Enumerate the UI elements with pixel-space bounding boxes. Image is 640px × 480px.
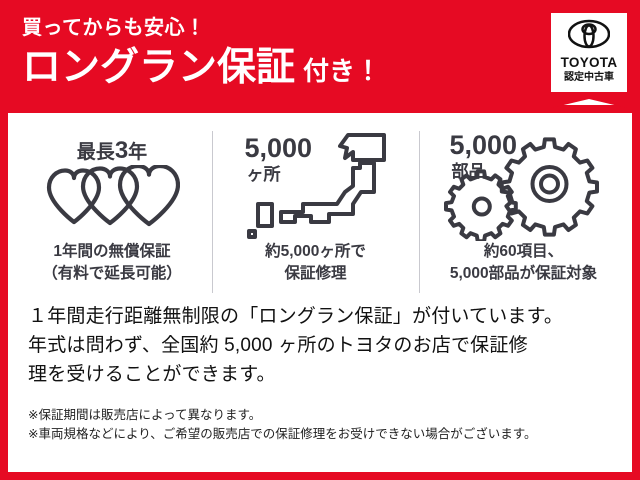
footnotes: ※保証期間は販売店によって異なります。 ※車両規格などにより、ご希望の販売店での… <box>28 406 612 445</box>
logo-brand-jp: 認定中古車 <box>564 73 614 83</box>
feature-1-icon-area: 最長3年 <box>16 125 208 245</box>
feature-1-caption-line2: （有料で延長可能） <box>42 263 182 285</box>
gears-block: 5,000 部品 <box>444 129 604 241</box>
feature-3-badge-number: 5,000 <box>450 133 518 159</box>
feature-3-caption-line2: 5,000部品が保証対象 <box>450 263 597 285</box>
logo-swoosh-shape <box>551 92 627 108</box>
content-panel: 最長3年 <box>8 113 632 472</box>
feature-service-locations: 5,000 ヶ所 <box>212 125 419 301</box>
feature-2-caption: 約5,000ヶ所で 保証修理 <box>265 241 366 286</box>
headline-main-text: ロングラン保証 <box>22 48 295 87</box>
header-kicker: 買ってからも安心！ <box>22 18 381 38</box>
body-line-2: 年式は問わず、全国約 5,000 ヶ所のトヨタのお店で保証修 <box>28 332 612 361</box>
feature-1-caption: 1年間の無償保証 （有料で延長可能） <box>42 241 182 286</box>
feature-1-badge-suffix: 年 <box>128 142 147 163</box>
header-banner: 買ってからも安心！ ロングラン保証 付き！ TOYOTA 認定中古車 <box>0 0 640 113</box>
feature-1-caption-line1: 1年間の無償保証 <box>42 241 182 263</box>
feature-2-badge-number: 5,000 <box>245 136 313 162</box>
feature-3-badge-unit: 部品 <box>452 163 486 180</box>
feature-covered-parts: 5,000 部品 <box>419 125 628 301</box>
advertisement-banner: 買ってからも安心！ ロングラン保証 付き！ TOYOTA 認定中古車 <box>0 0 640 480</box>
feature-columns: 最長3年 <box>8 113 632 301</box>
headline-sub-text: 付き！ <box>303 58 381 84</box>
body-line-3: 理を受けることができます。 <box>28 361 612 390</box>
three-hearts-icon <box>44 165 180 232</box>
toyota-certified-logo: TOYOTA 認定中古車 <box>551 13 627 105</box>
logo-inner: TOYOTA 認定中古車 <box>555 16 623 105</box>
feature-1-badge-number: 3 <box>115 137 128 164</box>
body-line-1: １年間走行距離無制限の「ロングラン保証」が付いています。 <box>28 303 612 332</box>
map-block: 5,000 ヶ所 <box>241 130 391 240</box>
toyota-emblem-icon <box>568 19 610 54</box>
footnote-1: ※保証期間は販売店によって異なります。 <box>28 406 612 425</box>
feature-2-icon-area: 5,000 ヶ所 <box>216 125 415 245</box>
feature-3-icon-area: 5,000 部品 <box>423 125 624 245</box>
hearts-block: 最長3年 <box>44 139 180 232</box>
header-headline: ロングラン保証 付き！ <box>22 48 381 87</box>
feature-2-caption-line2: 保証修理 <box>265 263 366 285</box>
header-text-group: 買ってからも安心！ ロングラン保証 付き！ <box>22 18 381 87</box>
logo-brand-word: TOYOTA <box>561 56 618 70</box>
feature-1-badge: 最長3年 <box>77 139 147 163</box>
feature-2-badge-unit: ヶ所 <box>247 166 281 183</box>
body-copy: １年間走行距離無制限の「ロングラン保証」が付いています。 年式は問わず、全国約 … <box>28 303 612 390</box>
feature-3-caption: 約60項目、 5,000部品が保証対象 <box>450 241 597 286</box>
feature-warranty-length: 最長3年 <box>12 125 212 301</box>
footnote-2: ※車両規格などにより、ご希望の販売店での保証修理をお受けできない場合がございます… <box>28 425 612 444</box>
feature-1-badge-prefix: 最長 <box>77 142 115 163</box>
